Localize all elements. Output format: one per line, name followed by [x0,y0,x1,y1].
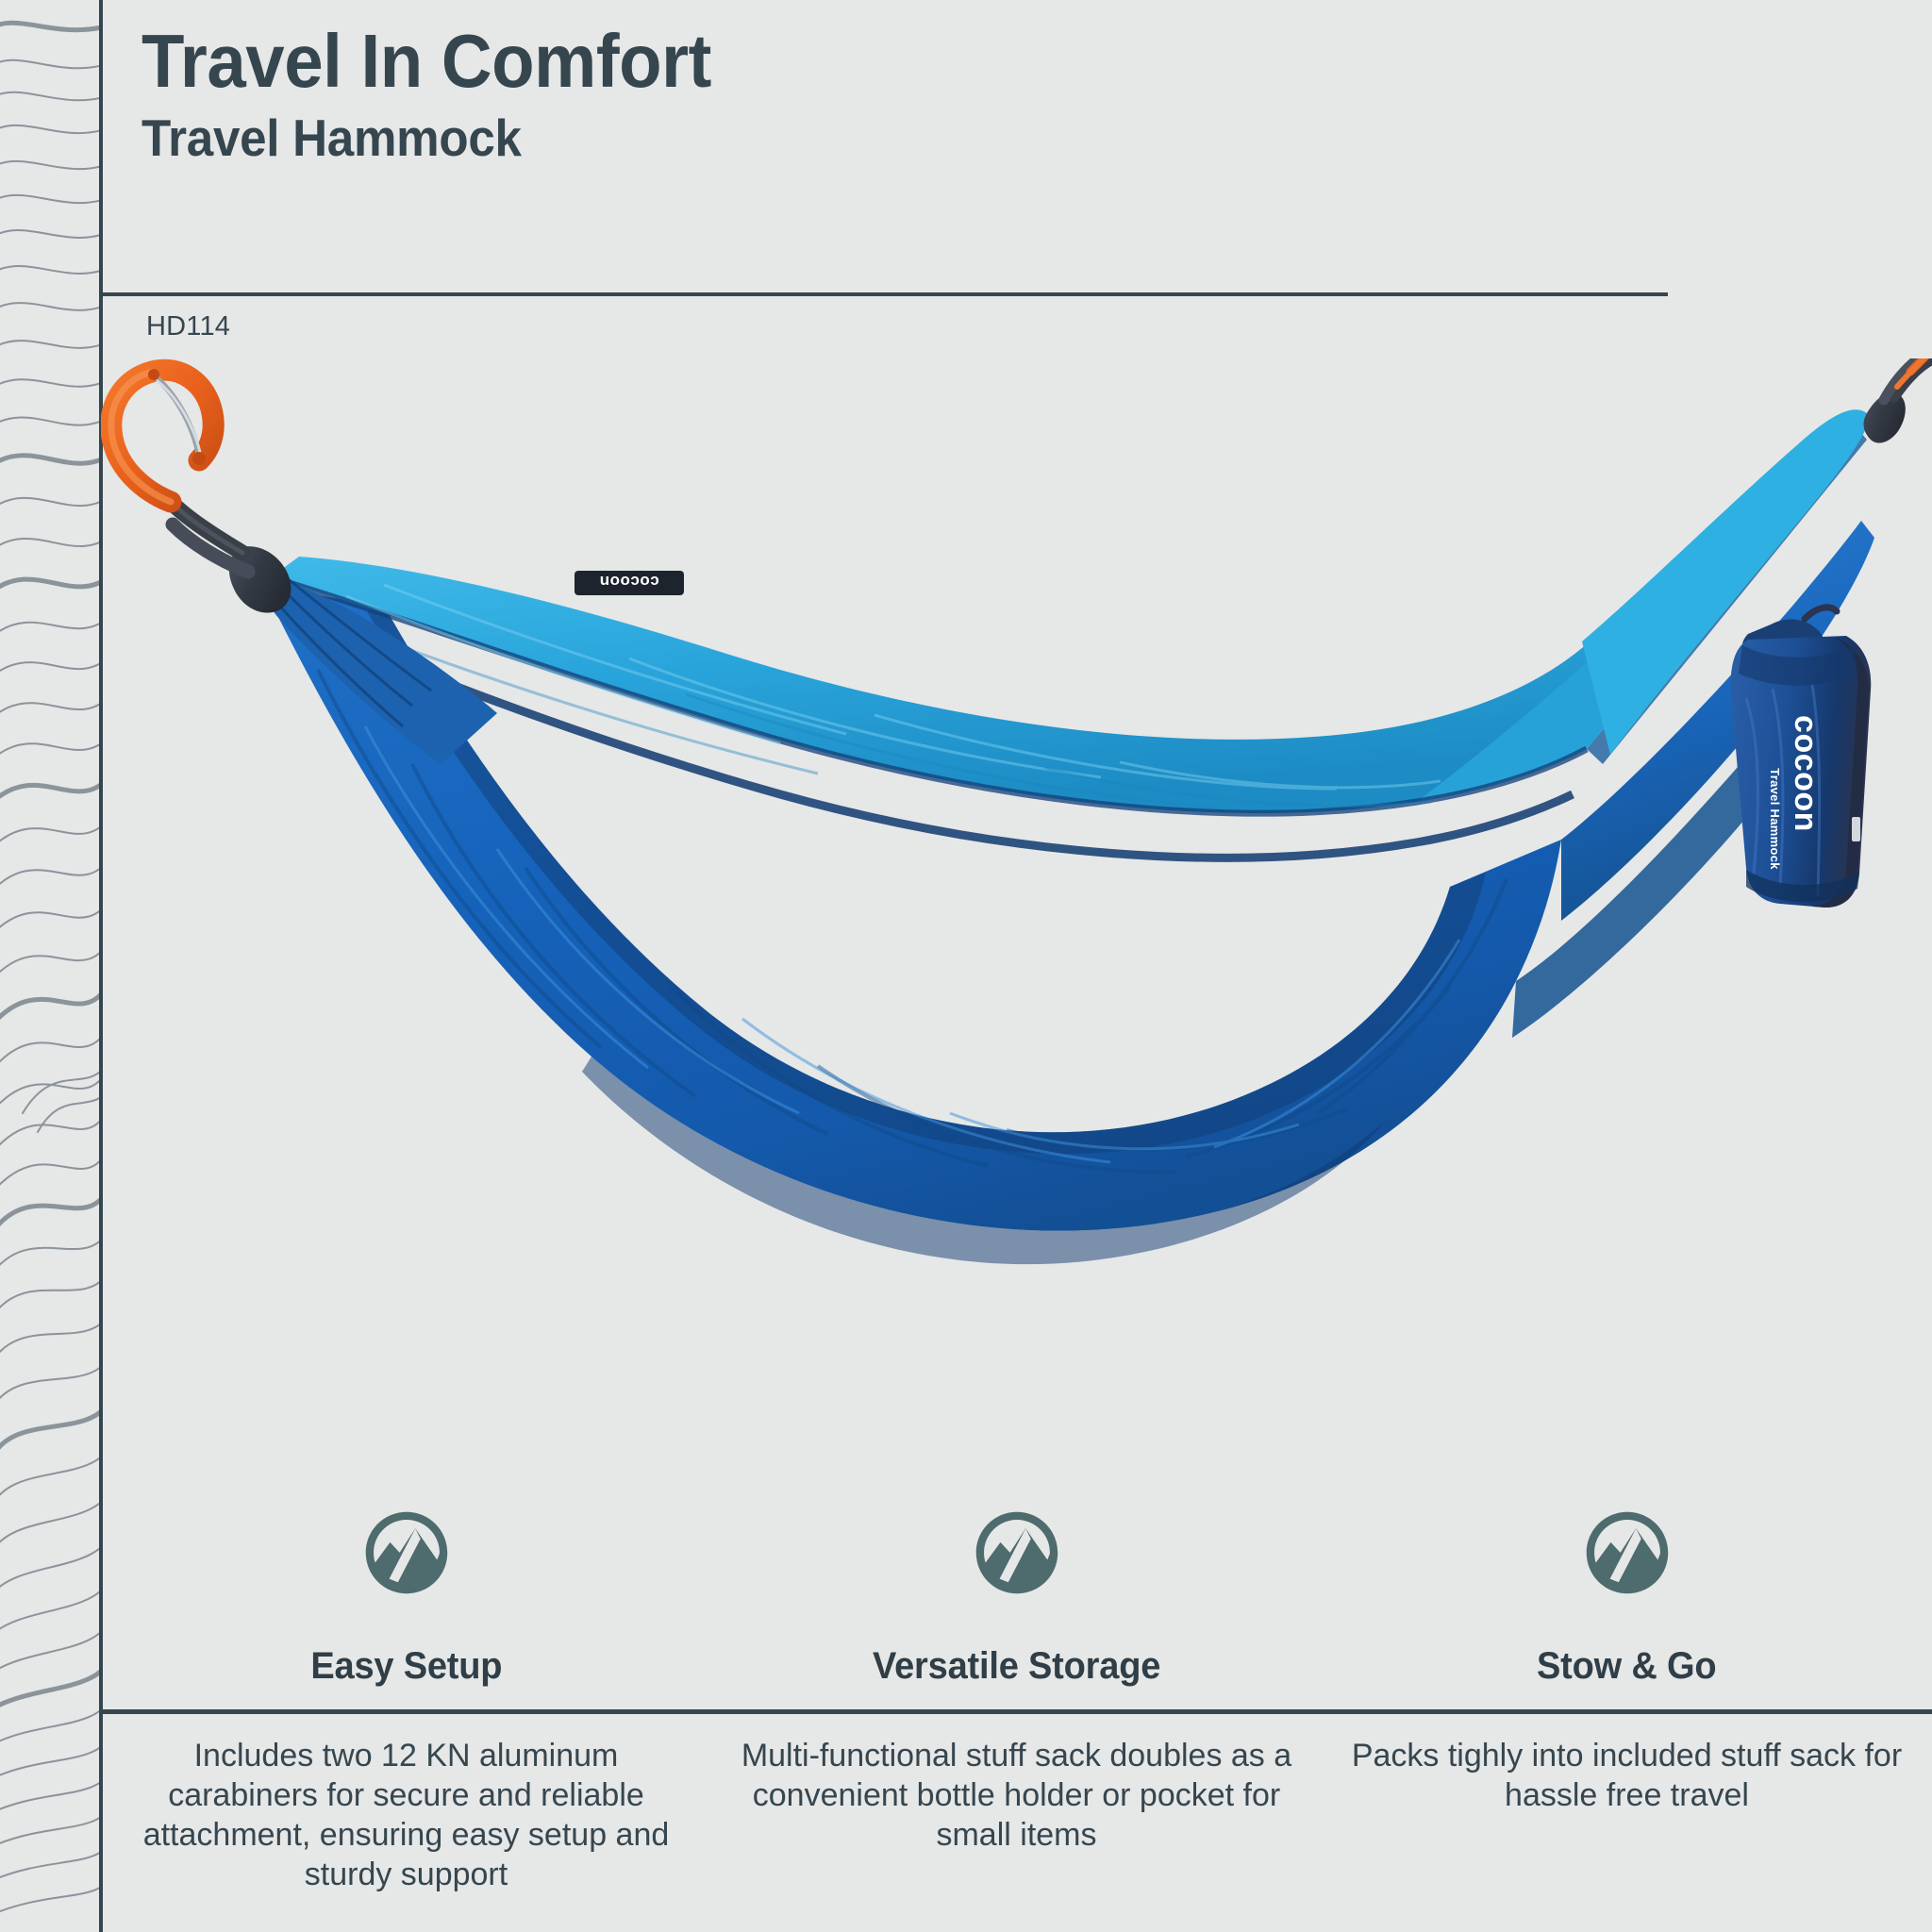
svg-text:Travel Hammock: Travel Hammock [1768,768,1782,870]
feature-description: Includes two 12 KN aluminum carabiners f… [101,1736,711,1895]
mountain-circle-icon [363,1509,450,1596]
svg-text:cocoon: cocoon [1788,715,1824,832]
header-divider [101,292,1668,296]
topographic-pattern [0,0,101,1932]
feature-versatile-storage: Versatile Storage [711,1509,1322,1755]
svg-text:cocoon: cocoon [599,573,658,591]
feature-description: Packs tighly into included stuff sack fo… [1322,1736,1932,1895]
product-image: cocoon [101,358,1932,1472]
feature-easy-setup: Easy Setup [101,1509,711,1755]
product-name: Travel Hammock [142,111,1756,166]
infographic-page: Travel In Comfort Travel Hammock HD114 [0,0,1932,1932]
sku-code: HD114 [146,311,230,342]
page-title: Travel In Comfort [142,23,1756,100]
header: Travel In Comfort Travel Hammock [142,23,1877,165]
feature-title: Stow & Go [1537,1645,1716,1688]
feature-divider [101,1709,1932,1714]
feature-list: Easy Setup Versatile Storage Stow & Go [101,1509,1932,1755]
feature-descriptions: Includes two 12 KN aluminum carabiners f… [101,1736,1932,1895]
feature-title: Versatile Storage [873,1645,1160,1688]
feature-description: Multi-functional stuff sack doubles as a… [711,1736,1322,1895]
feature-stow-and-go: Stow & Go [1322,1509,1932,1755]
feature-title: Easy Setup [310,1645,502,1688]
mountain-circle-icon [974,1509,1060,1596]
mountain-circle-icon [1584,1509,1671,1596]
